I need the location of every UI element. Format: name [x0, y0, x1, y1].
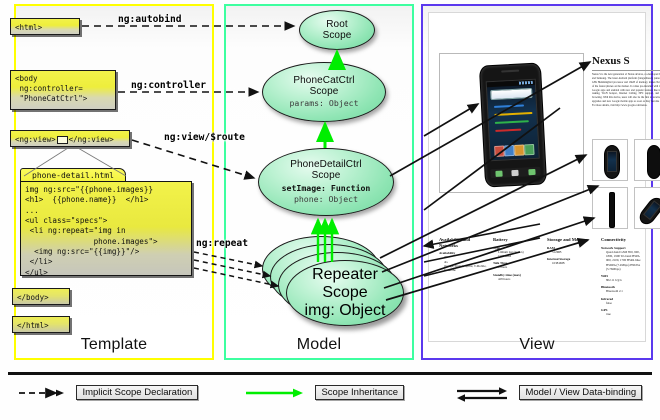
spec-value-gps: true — [606, 312, 645, 316]
phone-search-widget — [490, 88, 532, 100]
view-rendered-page: Nexus S Nexus S is the next generation o… — [428, 12, 646, 342]
scope-root: Root Scope — [299, 10, 375, 50]
nav-key-call — [495, 170, 502, 176]
legend-item-scope-inheritance: Scope Inheritance — [245, 384, 404, 400]
spec-column-battery: Battery Type Lithium Ion (Li-Ion) 1500 m… — [493, 237, 541, 281]
nav-key-home — [512, 169, 519, 175]
app-icon-1 — [494, 145, 505, 157]
legend-item-data-binding: Model / View Data-binding — [455, 384, 642, 400]
spec-column-availability: Availability and Networks Availability 3… — [439, 237, 487, 273]
ngview-close-tag: </ng:view> — [69, 135, 114, 144]
scope-phonecatctrl-line2: Scope — [310, 86, 339, 97]
thumb-phone-front — [604, 145, 620, 179]
panel-label-model: Model — [224, 336, 414, 354]
view-article-body: Nexus S is the next generation of Nexus … — [592, 73, 660, 135]
spec-value-battery-talk: 6 hours — [498, 265, 541, 269]
scope-phonedetailctrl-line2: Scope — [312, 170, 341, 181]
phone-earpiece — [501, 70, 519, 73]
diagram-canvas: <html> <body ng:controller= "PhoneCatCtr… — [0, 0, 660, 420]
thumbnail-2[interactable] — [634, 139, 660, 181]
label-ng-controller: ng:controller — [131, 80, 206, 91]
legend-label-data-binding: Model / View Data-binding — [519, 385, 642, 400]
thumbnail-4[interactable] — [634, 187, 660, 229]
label-ng-autobind: ng:autobind — [118, 14, 182, 25]
app-icon-4 — [524, 144, 535, 156]
label-ng-repeat: ng:repeat — [196, 238, 248, 249]
legend-dashed-arrow-icon — [18, 387, 66, 399]
thumb-phone-back — [647, 145, 660, 179]
screen-accent-line-3 — [495, 120, 529, 124]
ngview-open-tag: <ng:view> — [15, 135, 56, 144]
thumb-phone-side — [609, 192, 615, 228]
label-ng-view-route: ng:view/$route — [164, 132, 245, 143]
scope-phonecatctrl-member-params: params: Object — [289, 99, 358, 109]
legend-double-arrow-icon — [455, 386, 509, 402]
scope-phonedetailctrl-member-setimage: setImage: Function — [282, 184, 371, 194]
phone-statusbar — [487, 80, 535, 88]
thumbnail-3[interactable] — [592, 187, 628, 229]
spec-value-battery-type-2: 1500 mAh — [498, 254, 541, 258]
callout-filename: phone-detail.html — [20, 168, 126, 182]
phone-navbar — [490, 167, 540, 179]
callout-phone-detail: phone-detail.html img ng:src="{{phone.im… — [20, 168, 192, 276]
scope-repeater-member-img: img: Object — [305, 302, 386, 320]
phone-screen — [486, 79, 540, 162]
screen-accent-line-4 — [495, 129, 521, 132]
panel-label-view: View — [421, 336, 653, 354]
code-body-close: </body> — [12, 288, 70, 305]
scope-repeater-line2: Scope — [322, 284, 367, 302]
legend-label-implicit-scope: Implicit Scope Declaration — [76, 385, 198, 400]
scope-phonedetailctrl-line1: PhoneDetailCtrl — [290, 159, 362, 170]
spec-header-storage: Storage and Memory — [547, 237, 599, 243]
spec-value-battery-standby: 428 hours — [498, 277, 541, 281]
thumbnail-1[interactable] — [592, 139, 628, 181]
thumb1-screen — [607, 151, 617, 172]
legend-green-arrow-icon — [245, 387, 305, 399]
legend-label-scope-inheritance: Scope Inheritance — [315, 385, 404, 400]
scope-repeater: Repeater Scope img: Object — [286, 260, 404, 326]
spec-header-availability: Availability and Networks — [439, 237, 487, 248]
app-icon-2 — [504, 145, 515, 157]
scope-root-line2: Scope — [323, 30, 352, 41]
phone-hero-image — [479, 62, 547, 187]
spec-value-availability-3: Orange, Singtel, Sprint, T-Mobile, Vodaf… — [444, 264, 487, 273]
spec-value-bluetooth: Bluetooth 2.1 — [606, 289, 645, 293]
scope-phonedetailctrl: PhoneDetailCtrl Scope setImage: Function… — [258, 148, 394, 216]
legend-item-implicit-scope: Implicit Scope Declaration — [18, 384, 198, 400]
screen-accent-line-2 — [494, 112, 532, 116]
spec-column-storage: Storage and Memory RAM 512MB Internal St… — [547, 237, 599, 265]
spec-value-network-support: Quad-band GSM 850, 900, 1800, 1900 Tri-b… — [606, 250, 645, 271]
spec-value-wifi: 802.11 b/g/n — [606, 278, 645, 282]
scope-phonecatctrl: PhoneCatCtrl Scope params: Object — [262, 62, 386, 122]
scope-phonecatctrl-line1: PhoneCatCtrl — [293, 75, 354, 86]
callout-code: img ng:src="{{phone.images}} <h1> {{phon… — [20, 181, 192, 276]
panel-label-template: Template — [14, 336, 214, 354]
app-icon-3 — [514, 144, 525, 156]
code-html-close: </html> — [12, 316, 70, 333]
view-article-title: Nexus S — [592, 55, 630, 67]
thumb-phone-angled — [636, 195, 660, 228]
view-spec-table: Availability and Networks Availability 3… — [437, 237, 643, 317]
screen-accent-line-1 — [494, 104, 524, 108]
scope-repeater-line1: Repeater — [312, 266, 378, 284]
thumb4-screen — [643, 200, 660, 220]
scope-repeater-stack: Repeater Scope img: Object — [262, 236, 404, 340]
phone-app-grid — [494, 142, 535, 157]
scope-phonedetailctrl-member-phone: phone: Object — [294, 195, 358, 205]
code-body-open: <body ng:controller= "PhoneCatCtrl"> — [10, 70, 116, 110]
scope-root-line1: Root — [326, 19, 348, 30]
nav-key-menu — [528, 168, 535, 174]
ngview-placeholder-icon — [57, 136, 68, 144]
spec-column-connectivity: Connectivity Network Support Quad-band G… — [601, 237, 645, 316]
spec-value-internal-storage: 16384MB — [552, 261, 599, 265]
legend-divider — [8, 372, 652, 375]
spec-value-ram: 512MB — [552, 250, 599, 254]
spec-value-infrared: false — [606, 301, 645, 305]
code-ngview: <ng:view></ng:view> — [10, 130, 130, 147]
spec-header-connectivity: Connectivity — [601, 237, 645, 243]
spec-header-battery: Battery — [493, 237, 541, 243]
code-html-open: <html> — [10, 18, 80, 35]
hero-image-frame — [439, 53, 584, 193]
view-title-rule — [592, 70, 660, 71]
